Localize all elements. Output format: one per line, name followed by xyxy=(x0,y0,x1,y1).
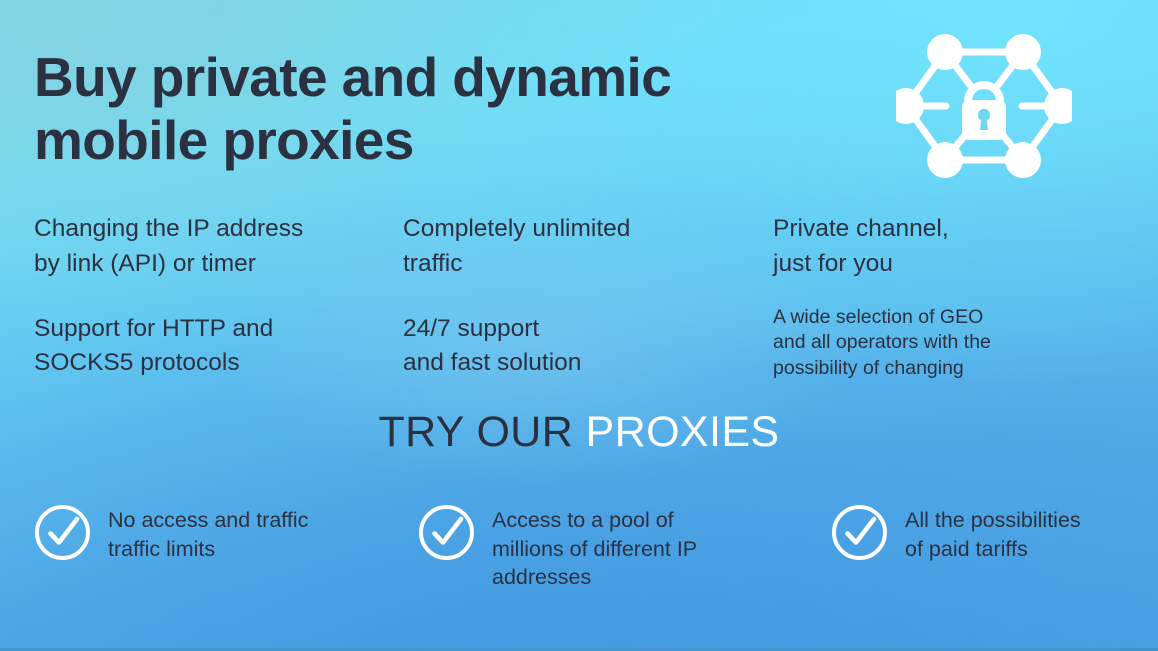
feature-primary-text: Completely unlimited traffic xyxy=(403,212,751,282)
check-circle-icon xyxy=(34,504,91,561)
cta-heading-dark: TRY OUR xyxy=(378,408,585,456)
feature-primary-text: Private channel, just for you xyxy=(773,212,1126,282)
list-item-label: All the possibilities of paid tariffs xyxy=(905,502,1081,563)
page-title: Buy private and dynamic mobile proxies xyxy=(34,46,794,171)
list-item-label: No access and traffic traffic limits xyxy=(108,502,308,563)
feature-column-2: Completely unlimited traffic 24/7 suppor… xyxy=(403,212,773,381)
list-item-label: Access to a pool of millions of differen… xyxy=(492,502,697,592)
list-item: All the possibilities of paid tariffs xyxy=(831,502,1134,563)
cta-heading-light: PROXIES xyxy=(586,408,780,456)
network-lock-icon xyxy=(896,22,1072,190)
feature-column-3: Private channel, just for you A wide sel… xyxy=(773,212,1126,382)
feature-secondary-text: 24/7 support and fast solution xyxy=(403,312,751,382)
list-item: Access to a pool of millions of differen… xyxy=(418,502,831,592)
feature-columns: Changing the IP address by link (API) or… xyxy=(34,212,1126,382)
list-item: No access and traffic traffic limits xyxy=(34,502,418,563)
check-circle-icon xyxy=(418,504,475,561)
feature-secondary-text: A wide selection of GEO and all operator… xyxy=(773,305,1126,382)
benefits-checklist: No access and traffic traffic limits Acc… xyxy=(34,502,1134,592)
promo-banner: Buy private and dynamic mobile proxies xyxy=(0,0,1158,651)
cta-heading: TRY OUR PROXIES xyxy=(0,409,1158,456)
feature-primary-text: Changing the IP address by link (API) or… xyxy=(34,212,381,282)
feature-column-1: Changing the IP address by link (API) or… xyxy=(34,212,403,381)
check-circle-icon xyxy=(831,504,888,561)
feature-secondary-text: Support for HTTP and SOCKS5 protocols xyxy=(34,312,381,382)
